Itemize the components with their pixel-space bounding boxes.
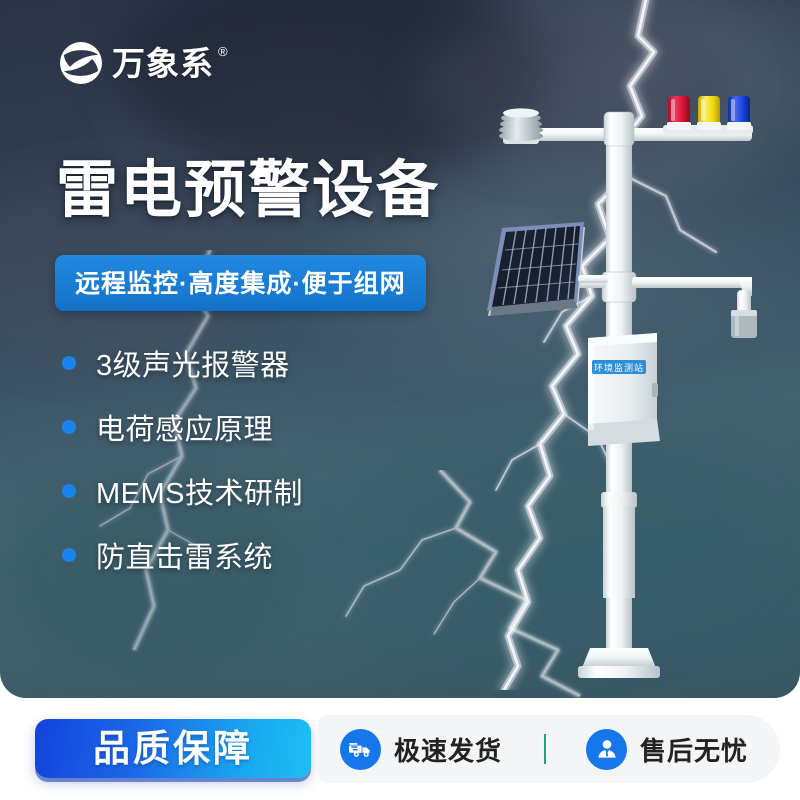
storm-cloud-shape [300, 430, 760, 650]
hero-background-storm-sky: 环境监测站 万象系 ® 雷电预警设备 远程监控·高度集成·便于组网 [0, 0, 800, 698]
trust-item-label: 极速发货 [394, 731, 502, 768]
list-item: 电荷感应原理 [62, 408, 303, 446]
delivery-truck-icon [340, 729, 381, 770]
bullet-dot-icon [62, 484, 76, 498]
feature-label: 电荷感应原理 [96, 406, 273, 448]
bullet-dot-icon [62, 356, 76, 370]
bullet-dot-icon [62, 420, 76, 434]
bullet-dot-icon [62, 548, 76, 562]
quality-guarantee-label: 品质保障 [93, 730, 253, 767]
list-item: MEMS技术研制 [62, 472, 303, 510]
control-cabinet: 环境监测站 [588, 333, 660, 446]
svg-text:环境监测站: 环境监测站 [594, 362, 644, 373]
customer-service-agent-icon [586, 729, 627, 770]
list-item: 防直击雷系统 [62, 536, 303, 574]
page-title: 雷电预警设备 [56, 158, 440, 225]
yellow-alarm-light [697, 96, 721, 130]
radiation-shield-sensor [499, 108, 543, 144]
red-alarm-light [667, 96, 691, 130]
storm-cloud-shape [120, 0, 540, 180]
list-item: 3级声光报警器 [62, 344, 303, 382]
feature-label: MEMS技术研制 [96, 470, 303, 512]
solar-panel [487, 222, 608, 316]
blue-alarm-light [727, 96, 751, 130]
brand-name: 万象系 [112, 47, 214, 80]
feature-label: 防直击雷系统 [96, 534, 273, 576]
feature-list: 3级声光报警器 电荷感应原理 MEMS技术研制 防直击雷系统 [62, 344, 303, 574]
storm-cloud-shape [420, 10, 740, 160]
trust-item-fast-shipping: 极速发货 [318, 729, 502, 770]
lightning-bolt-icon [470, 0, 730, 690]
trademark-symbol: ® [218, 44, 228, 59]
feature-label: 3级声光报警器 [96, 342, 290, 384]
lightning-bolt-icon [330, 470, 670, 698]
trust-item-after-sales: 售后无忧 [546, 729, 748, 770]
field-mill-sensor-arm [731, 310, 757, 338]
brand-logo: 万象系 ® [58, 40, 232, 86]
swirl-globe-logo-icon [58, 40, 104, 86]
three-stage-alarm-light-bar [663, 96, 753, 134]
trust-item-label: 售后无忧 [640, 731, 748, 768]
product-poster: 环境监测站 万象系 ® 雷电预警设备 远程监控·高度集成·便于组网 [0, 0, 800, 800]
quality-guarantee-chip: 品质保障 [35, 719, 311, 778]
trust-bar: 品质保障 极速发货 [0, 698, 800, 800]
trust-items-panel: 极速发货 售后无忧 [318, 715, 780, 783]
subtitle-badge: 远程监控·高度集成·便于组网 [55, 255, 426, 311]
